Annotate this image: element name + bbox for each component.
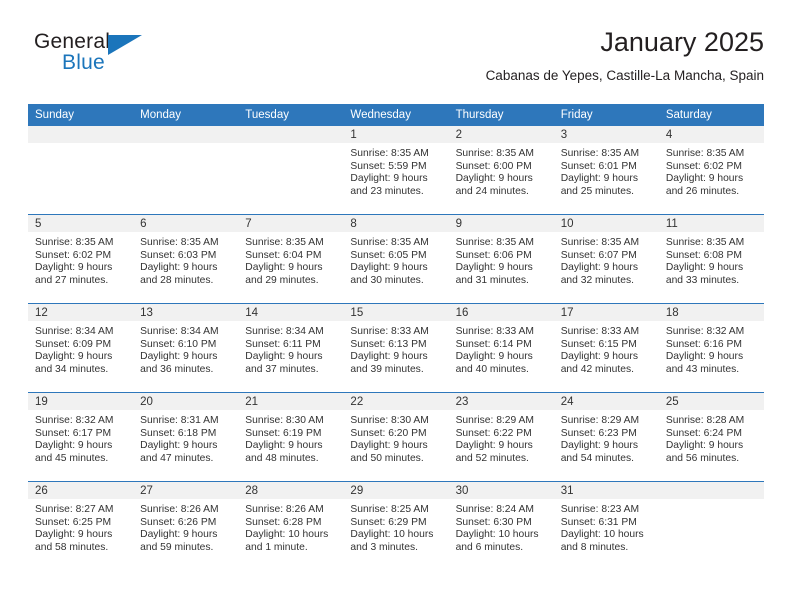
daylight-text-line2: and 58 minutes. bbox=[35, 542, 127, 555]
day-number bbox=[28, 126, 133, 143]
day-number: 20 bbox=[133, 393, 238, 410]
page-subtitle: Cabanas de Yepes, Castille-La Mancha, Sp… bbox=[486, 66, 764, 86]
day-details: Sunrise: 8:35 AMSunset: 6:02 PMDaylight:… bbox=[659, 143, 764, 198]
daylight-text-line2: and 34 minutes. bbox=[35, 364, 127, 377]
day-details: Sunrise: 8:35 AMSunset: 6:02 PMDaylight:… bbox=[28, 232, 133, 287]
day-details: Sunrise: 8:30 AMSunset: 6:19 PMDaylight:… bbox=[238, 410, 343, 465]
sunset-text: Sunset: 6:14 PM bbox=[456, 339, 548, 352]
weekday-header-saturday: Saturday bbox=[659, 104, 764, 126]
day-number: 4 bbox=[659, 126, 764, 143]
sunset-text: Sunset: 6:20 PM bbox=[350, 428, 442, 441]
day-number: 5 bbox=[28, 215, 133, 232]
day-number: 1 bbox=[343, 126, 448, 143]
weekday-header-sunday: Sunday bbox=[28, 104, 133, 126]
calendar-week-row: 12Sunrise: 8:34 AMSunset: 6:09 PMDayligh… bbox=[28, 304, 764, 393]
calendar-week-row: 5Sunrise: 8:35 AMSunset: 6:02 PMDaylight… bbox=[28, 215, 764, 304]
day-number: 22 bbox=[343, 393, 448, 410]
daylight-text-line1: Daylight: 9 hours bbox=[456, 262, 548, 275]
sunrise-text: Sunrise: 8:30 AM bbox=[245, 415, 337, 428]
daylight-text-line1: Daylight: 9 hours bbox=[561, 173, 653, 186]
sunset-text: Sunset: 6:07 PM bbox=[561, 250, 653, 263]
daylight-text-line2: and 28 minutes. bbox=[140, 275, 232, 288]
daylight-text-line1: Daylight: 9 hours bbox=[140, 262, 232, 275]
sunrise-text: Sunrise: 8:34 AM bbox=[245, 326, 337, 339]
sunrise-text: Sunrise: 8:35 AM bbox=[140, 237, 232, 250]
sunset-text: Sunset: 6:13 PM bbox=[350, 339, 442, 352]
day-cell-3[interactable]: 3Sunrise: 8:35 AMSunset: 6:01 PMDaylight… bbox=[554, 126, 659, 214]
sunset-text: Sunset: 6:31 PM bbox=[561, 517, 653, 530]
day-cell-15[interactable]: 15Sunrise: 8:33 AMSunset: 6:13 PMDayligh… bbox=[343, 304, 448, 392]
sunset-text: Sunset: 6:26 PM bbox=[140, 517, 232, 530]
day-cell-empty bbox=[659, 482, 764, 570]
day-cell-25[interactable]: 25Sunrise: 8:28 AMSunset: 6:24 PMDayligh… bbox=[659, 393, 764, 481]
sunset-text: Sunset: 6:01 PM bbox=[561, 161, 653, 174]
daylight-text-line1: Daylight: 9 hours bbox=[561, 440, 653, 453]
day-details: Sunrise: 8:33 AMSunset: 6:15 PMDaylight:… bbox=[554, 321, 659, 376]
sunset-text: Sunset: 6:22 PM bbox=[456, 428, 548, 441]
day-cell-16[interactable]: 16Sunrise: 8:33 AMSunset: 6:14 PMDayligh… bbox=[449, 304, 554, 392]
daylight-text-line1: Daylight: 9 hours bbox=[245, 351, 337, 364]
sunrise-text: Sunrise: 8:29 AM bbox=[561, 415, 653, 428]
day-cell-empty bbox=[238, 126, 343, 214]
sunset-text: Sunset: 6:10 PM bbox=[140, 339, 232, 352]
sunset-text: Sunset: 6:02 PM bbox=[35, 250, 127, 263]
daylight-text-line1: Daylight: 9 hours bbox=[245, 440, 337, 453]
daylight-text-line2: and 39 minutes. bbox=[350, 364, 442, 377]
sunrise-text: Sunrise: 8:35 AM bbox=[561, 148, 653, 161]
sunset-text: Sunset: 6:02 PM bbox=[666, 161, 758, 174]
sunset-text: Sunset: 6:09 PM bbox=[35, 339, 127, 352]
sunset-text: Sunset: 6:08 PM bbox=[666, 250, 758, 263]
sunset-text: Sunset: 6:17 PM bbox=[35, 428, 127, 441]
day-cell-6[interactable]: 6Sunrise: 8:35 AMSunset: 6:03 PMDaylight… bbox=[133, 215, 238, 303]
sunrise-text: Sunrise: 8:33 AM bbox=[350, 326, 442, 339]
day-cell-23[interactable]: 23Sunrise: 8:29 AMSunset: 6:22 PMDayligh… bbox=[449, 393, 554, 481]
sunrise-text: Sunrise: 8:27 AM bbox=[35, 504, 127, 517]
sunset-text: Sunset: 6:15 PM bbox=[561, 339, 653, 352]
daylight-text-line2: and 24 minutes. bbox=[456, 186, 548, 199]
calendar-page: General Blue January 2025 Cabanas de Yep… bbox=[0, 0, 792, 612]
sunset-text: Sunset: 6:00 PM bbox=[456, 161, 548, 174]
sunrise-text: Sunrise: 8:23 AM bbox=[561, 504, 653, 517]
day-cell-31[interactable]: 31Sunrise: 8:23 AMSunset: 6:31 PMDayligh… bbox=[554, 482, 659, 570]
sunrise-text: Sunrise: 8:24 AM bbox=[456, 504, 548, 517]
day-cell-18[interactable]: 18Sunrise: 8:32 AMSunset: 6:16 PMDayligh… bbox=[659, 304, 764, 392]
calendar-header-row: SundayMondayTuesdayWednesdayThursdayFrid… bbox=[28, 104, 764, 126]
day-cell-empty bbox=[28, 126, 133, 214]
sunset-text: Sunset: 6:18 PM bbox=[140, 428, 232, 441]
general-blue-logo[interactable]: General Blue bbox=[34, 30, 164, 86]
daylight-text-line2: and 26 minutes. bbox=[666, 186, 758, 199]
daylight-text-line1: Daylight: 9 hours bbox=[456, 351, 548, 364]
daylight-text-line2: and 40 minutes. bbox=[456, 364, 548, 377]
sunrise-text: Sunrise: 8:35 AM bbox=[666, 237, 758, 250]
sunrise-text: Sunrise: 8:33 AM bbox=[561, 326, 653, 339]
day-details: Sunrise: 8:24 AMSunset: 6:30 PMDaylight:… bbox=[449, 499, 554, 554]
day-details: Sunrise: 8:35 AMSunset: 6:03 PMDaylight:… bbox=[133, 232, 238, 287]
day-cell-11[interactable]: 11Sunrise: 8:35 AMSunset: 6:08 PMDayligh… bbox=[659, 215, 764, 303]
daylight-text-line2: and 32 minutes. bbox=[561, 275, 653, 288]
day-cell-7[interactable]: 7Sunrise: 8:35 AMSunset: 6:04 PMDaylight… bbox=[238, 215, 343, 303]
day-details: Sunrise: 8:32 AMSunset: 6:17 PMDaylight:… bbox=[28, 410, 133, 465]
daylight-text-line2: and 23 minutes. bbox=[350, 186, 442, 199]
daylight-text-line2: and 6 minutes. bbox=[456, 542, 548, 555]
sunrise-text: Sunrise: 8:31 AM bbox=[140, 415, 232, 428]
daylight-text-line1: Daylight: 9 hours bbox=[666, 173, 758, 186]
day-number: 13 bbox=[133, 304, 238, 321]
day-number: 25 bbox=[659, 393, 764, 410]
day-number: 28 bbox=[238, 482, 343, 499]
day-cell-20[interactable]: 20Sunrise: 8:31 AMSunset: 6:18 PMDayligh… bbox=[133, 393, 238, 481]
day-number: 27 bbox=[133, 482, 238, 499]
day-details: Sunrise: 8:32 AMSunset: 6:16 PMDaylight:… bbox=[659, 321, 764, 376]
sunrise-text: Sunrise: 8:34 AM bbox=[35, 326, 127, 339]
sunrise-text: Sunrise: 8:26 AM bbox=[245, 504, 337, 517]
day-cell-30[interactable]: 30Sunrise: 8:24 AMSunset: 6:30 PMDayligh… bbox=[449, 482, 554, 570]
day-cell-21[interactable]: 21Sunrise: 8:30 AMSunset: 6:19 PMDayligh… bbox=[238, 393, 343, 481]
daylight-text-line2: and 33 minutes. bbox=[666, 275, 758, 288]
daylight-text-line1: Daylight: 9 hours bbox=[35, 351, 127, 364]
weekday-header-tuesday: Tuesday bbox=[238, 104, 343, 126]
sunrise-text: Sunrise: 8:32 AM bbox=[666, 326, 758, 339]
day-details: Sunrise: 8:30 AMSunset: 6:20 PMDaylight:… bbox=[343, 410, 448, 465]
daylight-text-line1: Daylight: 9 hours bbox=[350, 440, 442, 453]
day-details: Sunrise: 8:35 AMSunset: 6:01 PMDaylight:… bbox=[554, 143, 659, 198]
daylight-text-line1: Daylight: 10 hours bbox=[561, 529, 653, 542]
page-header: General Blue January 2025 Cabanas de Yep… bbox=[28, 26, 764, 98]
sunset-text: Sunset: 6:11 PM bbox=[245, 339, 337, 352]
sunrise-text: Sunrise: 8:29 AM bbox=[456, 415, 548, 428]
weekday-header-friday: Friday bbox=[554, 104, 659, 126]
day-cell-2[interactable]: 2Sunrise: 8:35 AMSunset: 6:00 PMDaylight… bbox=[449, 126, 554, 214]
daylight-text-line2: and 47 minutes. bbox=[140, 453, 232, 466]
sunset-text: Sunset: 6:23 PM bbox=[561, 428, 653, 441]
day-number: 6 bbox=[133, 215, 238, 232]
day-details: Sunrise: 8:29 AMSunset: 6:22 PMDaylight:… bbox=[449, 410, 554, 465]
sunrise-text: Sunrise: 8:25 AM bbox=[350, 504, 442, 517]
day-number: 14 bbox=[238, 304, 343, 321]
day-cell-4[interactable]: 4Sunrise: 8:35 AMSunset: 6:02 PMDaylight… bbox=[659, 126, 764, 214]
daylight-text-line2: and 37 minutes. bbox=[245, 364, 337, 377]
daylight-text-line2: and 50 minutes. bbox=[350, 453, 442, 466]
day-number: 21 bbox=[238, 393, 343, 410]
day-cell-19[interactable]: 19Sunrise: 8:32 AMSunset: 6:17 PMDayligh… bbox=[28, 393, 133, 481]
sunset-text: Sunset: 6:19 PM bbox=[245, 428, 337, 441]
sunset-text: Sunset: 6:25 PM bbox=[35, 517, 127, 530]
calendar-week-row: 19Sunrise: 8:32 AMSunset: 6:17 PMDayligh… bbox=[28, 393, 764, 482]
day-number: 10 bbox=[554, 215, 659, 232]
day-number: 24 bbox=[554, 393, 659, 410]
daylight-text-line2: and 45 minutes. bbox=[35, 453, 127, 466]
sunset-text: Sunset: 6:24 PM bbox=[666, 428, 758, 441]
sunrise-text: Sunrise: 8:26 AM bbox=[140, 504, 232, 517]
day-details: Sunrise: 8:35 AMSunset: 6:08 PMDaylight:… bbox=[659, 232, 764, 287]
day-details: Sunrise: 8:25 AMSunset: 6:29 PMDaylight:… bbox=[343, 499, 448, 554]
sunset-text: Sunset: 6:28 PM bbox=[245, 517, 337, 530]
day-number: 26 bbox=[28, 482, 133, 499]
day-cell-17[interactable]: 17Sunrise: 8:33 AMSunset: 6:15 PMDayligh… bbox=[554, 304, 659, 392]
weekday-header-thursday: Thursday bbox=[449, 104, 554, 126]
sunset-text: Sunset: 6:29 PM bbox=[350, 517, 442, 530]
sunrise-text: Sunrise: 8:30 AM bbox=[350, 415, 442, 428]
day-details: Sunrise: 8:34 AMSunset: 6:11 PMDaylight:… bbox=[238, 321, 343, 376]
daylight-text-line2: and 27 minutes. bbox=[35, 275, 127, 288]
calendar-week-row: 26Sunrise: 8:27 AMSunset: 6:25 PMDayligh… bbox=[28, 482, 764, 571]
day-cell-28[interactable]: 28Sunrise: 8:26 AMSunset: 6:28 PMDayligh… bbox=[238, 482, 343, 570]
day-details: Sunrise: 8:35 AMSunset: 6:04 PMDaylight:… bbox=[238, 232, 343, 287]
day-number: 23 bbox=[449, 393, 554, 410]
day-cell-1[interactable]: 1Sunrise: 8:35 AMSunset: 5:59 PMDaylight… bbox=[343, 126, 448, 214]
day-details: Sunrise: 8:33 AMSunset: 6:14 PMDaylight:… bbox=[449, 321, 554, 376]
daylight-text-line1: Daylight: 9 hours bbox=[140, 440, 232, 453]
day-cell-27[interactable]: 27Sunrise: 8:26 AMSunset: 6:26 PMDayligh… bbox=[133, 482, 238, 570]
day-details: Sunrise: 8:29 AMSunset: 6:23 PMDaylight:… bbox=[554, 410, 659, 465]
daylight-text-line1: Daylight: 9 hours bbox=[35, 440, 127, 453]
day-number: 16 bbox=[449, 304, 554, 321]
day-details: Sunrise: 8:34 AMSunset: 6:09 PMDaylight:… bbox=[28, 321, 133, 376]
sunset-text: Sunset: 6:05 PM bbox=[350, 250, 442, 263]
weekday-header-row: SundayMondayTuesdayWednesdayThursdayFrid… bbox=[28, 104, 764, 126]
sunrise-text: Sunrise: 8:35 AM bbox=[350, 237, 442, 250]
sunrise-text: Sunrise: 8:35 AM bbox=[666, 148, 758, 161]
daylight-text-line1: Daylight: 9 hours bbox=[666, 440, 758, 453]
day-details: Sunrise: 8:34 AMSunset: 6:10 PMDaylight:… bbox=[133, 321, 238, 376]
daylight-text-line2: and 36 minutes. bbox=[140, 364, 232, 377]
daylight-text-line2: and 25 minutes. bbox=[561, 186, 653, 199]
day-number: 12 bbox=[28, 304, 133, 321]
daylight-text-line2: and 54 minutes. bbox=[561, 453, 653, 466]
day-details: Sunrise: 8:35 AMSunset: 6:05 PMDaylight:… bbox=[343, 232, 448, 287]
day-number: 11 bbox=[659, 215, 764, 232]
day-cell-12[interactable]: 12Sunrise: 8:34 AMSunset: 6:09 PMDayligh… bbox=[28, 304, 133, 392]
day-cell-14[interactable]: 14Sunrise: 8:34 AMSunset: 6:11 PMDayligh… bbox=[238, 304, 343, 392]
day-number: 15 bbox=[343, 304, 448, 321]
daylight-text-line2: and 31 minutes. bbox=[456, 275, 548, 288]
daylight-text-line2: and 30 minutes. bbox=[350, 275, 442, 288]
daylight-text-line2: and 56 minutes. bbox=[666, 453, 758, 466]
daylight-text-line2: and 59 minutes. bbox=[140, 542, 232, 555]
day-number: 18 bbox=[659, 304, 764, 321]
weekday-header-monday: Monday bbox=[133, 104, 238, 126]
daylight-text-line1: Daylight: 9 hours bbox=[140, 529, 232, 542]
sunset-text: Sunset: 6:04 PM bbox=[245, 250, 337, 263]
daylight-text-line1: Daylight: 9 hours bbox=[140, 351, 232, 364]
day-number: 30 bbox=[449, 482, 554, 499]
daylight-text-line1: Daylight: 9 hours bbox=[350, 351, 442, 364]
day-details: Sunrise: 8:33 AMSunset: 6:13 PMDaylight:… bbox=[343, 321, 448, 376]
daylight-text-line1: Daylight: 10 hours bbox=[350, 529, 442, 542]
daylight-text-line1: Daylight: 9 hours bbox=[561, 262, 653, 275]
daylight-text-line2: and 8 minutes. bbox=[561, 542, 653, 555]
daylight-text-line2: and 52 minutes. bbox=[456, 453, 548, 466]
daylight-text-line1: Daylight: 9 hours bbox=[35, 529, 127, 542]
day-details: Sunrise: 8:23 AMSunset: 6:31 PMDaylight:… bbox=[554, 499, 659, 554]
day-number: 2 bbox=[449, 126, 554, 143]
day-cell-26[interactable]: 26Sunrise: 8:27 AMSunset: 6:25 PMDayligh… bbox=[28, 482, 133, 570]
day-details: Sunrise: 8:26 AMSunset: 6:26 PMDaylight:… bbox=[133, 499, 238, 554]
day-details: Sunrise: 8:35 AMSunset: 5:59 PMDaylight:… bbox=[343, 143, 448, 198]
sunrise-text: Sunrise: 8:35 AM bbox=[456, 148, 548, 161]
day-number: 31 bbox=[554, 482, 659, 499]
day-cell-10[interactable]: 10Sunrise: 8:35 AMSunset: 6:07 PMDayligh… bbox=[554, 215, 659, 303]
daylight-text-line2: and 3 minutes. bbox=[350, 542, 442, 555]
daylight-text-line1: Daylight: 10 hours bbox=[456, 529, 548, 542]
daylight-text-line2: and 43 minutes. bbox=[666, 364, 758, 377]
day-number: 3 bbox=[554, 126, 659, 143]
day-number: 19 bbox=[28, 393, 133, 410]
day-cell-empty bbox=[133, 126, 238, 214]
sunset-text: Sunset: 5:59 PM bbox=[350, 161, 442, 174]
day-number: 8 bbox=[343, 215, 448, 232]
daylight-text-line1: Daylight: 9 hours bbox=[456, 173, 548, 186]
sunrise-text: Sunrise: 8:32 AM bbox=[35, 415, 127, 428]
daylight-text-line1: Daylight: 9 hours bbox=[350, 173, 442, 186]
calendar-week-row: 1Sunrise: 8:35 AMSunset: 5:59 PMDaylight… bbox=[28, 126, 764, 215]
day-number: 9 bbox=[449, 215, 554, 232]
daylight-text-line1: Daylight: 9 hours bbox=[350, 262, 442, 275]
daylight-text-line1: Daylight: 10 hours bbox=[245, 529, 337, 542]
sunrise-text: Sunrise: 8:35 AM bbox=[350, 148, 442, 161]
daylight-text-line2: and 29 minutes. bbox=[245, 275, 337, 288]
daylight-text-line1: Daylight: 9 hours bbox=[561, 351, 653, 364]
triangle-icon bbox=[108, 35, 142, 55]
day-details: Sunrise: 8:35 AMSunset: 6:07 PMDaylight:… bbox=[554, 232, 659, 287]
daylight-text-line1: Daylight: 9 hours bbox=[245, 262, 337, 275]
day-number: 17 bbox=[554, 304, 659, 321]
day-details: Sunrise: 8:27 AMSunset: 6:25 PMDaylight:… bbox=[28, 499, 133, 554]
logo-text-blue: Blue bbox=[62, 51, 105, 75]
daylight-text-line1: Daylight: 9 hours bbox=[35, 262, 127, 275]
sunrise-text: Sunrise: 8:35 AM bbox=[35, 237, 127, 250]
weekday-header-wednesday: Wednesday bbox=[343, 104, 448, 126]
sunrise-text: Sunrise: 8:35 AM bbox=[456, 237, 548, 250]
title-block: January 2025 Cabanas de Yepes, Castille-… bbox=[486, 26, 764, 86]
sunset-text: Sunset: 6:06 PM bbox=[456, 250, 548, 263]
daylight-text-line2: and 42 minutes. bbox=[561, 364, 653, 377]
day-cell-22[interactable]: 22Sunrise: 8:30 AMSunset: 6:20 PMDayligh… bbox=[343, 393, 448, 481]
sunset-text: Sunset: 6:03 PM bbox=[140, 250, 232, 263]
day-cell-13[interactable]: 13Sunrise: 8:34 AMSunset: 6:10 PMDayligh… bbox=[133, 304, 238, 392]
calendar-table: SundayMondayTuesdayWednesdayThursdayFrid… bbox=[28, 104, 764, 570]
day-cell-5[interactable]: 5Sunrise: 8:35 AMSunset: 6:02 PMDaylight… bbox=[28, 215, 133, 303]
daylight-text-line1: Daylight: 9 hours bbox=[666, 351, 758, 364]
day-details: Sunrise: 8:28 AMSunset: 6:24 PMDaylight:… bbox=[659, 410, 764, 465]
day-details: Sunrise: 8:35 AMSunset: 6:06 PMDaylight:… bbox=[449, 232, 554, 287]
day-number: 7 bbox=[238, 215, 343, 232]
daylight-text-line2: and 48 minutes. bbox=[245, 453, 337, 466]
sunrise-text: Sunrise: 8:35 AM bbox=[245, 237, 337, 250]
day-cell-24[interactable]: 24Sunrise: 8:29 AMSunset: 6:23 PMDayligh… bbox=[554, 393, 659, 481]
daylight-text-line1: Daylight: 9 hours bbox=[666, 262, 758, 275]
day-details: Sunrise: 8:35 AMSunset: 6:00 PMDaylight:… bbox=[449, 143, 554, 198]
day-number bbox=[133, 126, 238, 143]
daylight-text-line1: Daylight: 9 hours bbox=[456, 440, 548, 453]
day-details: Sunrise: 8:26 AMSunset: 6:28 PMDaylight:… bbox=[238, 499, 343, 554]
day-number bbox=[238, 126, 343, 143]
daylight-text-line2: and 1 minute. bbox=[245, 542, 337, 555]
sunset-text: Sunset: 6:16 PM bbox=[666, 339, 758, 352]
day-cell-29[interactable]: 29Sunrise: 8:25 AMSunset: 6:29 PMDayligh… bbox=[343, 482, 448, 570]
day-number: 29 bbox=[343, 482, 448, 499]
sunrise-text: Sunrise: 8:35 AM bbox=[561, 237, 653, 250]
day-details: Sunrise: 8:31 AMSunset: 6:18 PMDaylight:… bbox=[133, 410, 238, 465]
sunrise-text: Sunrise: 8:28 AM bbox=[666, 415, 758, 428]
sunrise-text: Sunrise: 8:34 AM bbox=[140, 326, 232, 339]
sunset-text: Sunset: 6:30 PM bbox=[456, 517, 548, 530]
day-number bbox=[659, 482, 764, 499]
page-title: January 2025 bbox=[486, 26, 764, 58]
sunrise-text: Sunrise: 8:33 AM bbox=[456, 326, 548, 339]
calendar-body: 1Sunrise: 8:35 AMSunset: 5:59 PMDaylight… bbox=[28, 126, 764, 570]
day-cell-8[interactable]: 8Sunrise: 8:35 AMSunset: 6:05 PMDaylight… bbox=[343, 215, 448, 303]
day-cell-9[interactable]: 9Sunrise: 8:35 AMSunset: 6:06 PMDaylight… bbox=[449, 215, 554, 303]
